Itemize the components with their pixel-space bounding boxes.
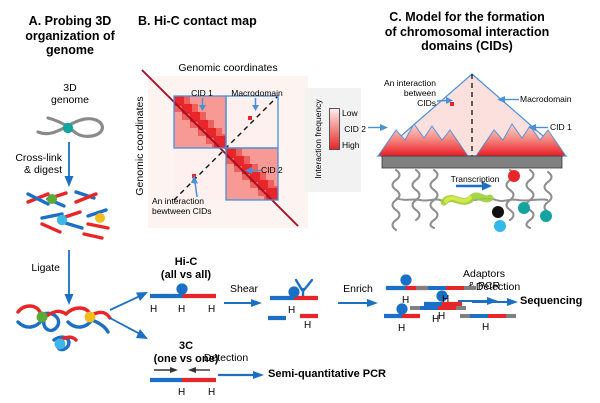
panel-c-cid2-label: CID 2 xyxy=(330,124,366,134)
panel-c-title-line3: domains (CIDs) xyxy=(338,39,596,54)
arrow-ligate xyxy=(62,250,76,306)
arrow-enrich xyxy=(338,298,380,308)
panel-c-macrodomain-arrow xyxy=(497,95,519,104)
panel-b-cid2-arrow xyxy=(245,166,261,175)
hic-title: Hi-C xyxy=(148,256,224,269)
svg-text:H: H xyxy=(288,305,295,316)
panel-a-title: A. Probing 3D organization of genome xyxy=(4,14,136,58)
threec-title: 3C xyxy=(140,340,232,353)
step-crosslink-line2: & digest xyxy=(0,164,62,176)
colorbar-high-label: High xyxy=(342,140,359,150)
panel-a-title-line1: A. Probing 3D xyxy=(4,14,136,29)
step-adaptors-line1: Adaptors xyxy=(456,268,512,280)
panel-a-title-line3: genome xyxy=(4,43,136,58)
panel-c-title: C. Model for the formation of chromosoma… xyxy=(338,10,596,54)
panel-c-interaction-arrow xyxy=(437,96,453,105)
genome-3d-label-line1: 3D xyxy=(30,82,110,94)
step-ligate-label: Ligate xyxy=(6,262,60,274)
panel-c-interaction-line3: CIDs xyxy=(358,98,436,108)
svg-text:H: H xyxy=(442,294,449,305)
svg-text:H: H xyxy=(432,314,439,325)
svg-text:H: H xyxy=(482,322,489,333)
digested-fragments-glyph xyxy=(18,188,128,250)
panel-c-cid1-arrow xyxy=(528,123,548,132)
arrow-crosslink xyxy=(62,142,76,188)
panel-c-interaction-label: An interaction between CIDs xyxy=(358,78,436,108)
panel-b-title: B. Hi-C contact map xyxy=(138,14,314,29)
hic-sheared-fragments: H H xyxy=(266,276,340,328)
genome-3d-label: 3D genome xyxy=(30,82,110,106)
step-detection-3c-label: Detection xyxy=(196,352,256,364)
arrow-detection-hic xyxy=(472,297,520,307)
colorbar-low-label: Low xyxy=(342,108,358,118)
panel-b-macrodomain-arrow xyxy=(251,98,260,112)
result-sequencing-label: Sequencing xyxy=(520,295,598,308)
svg-text:H: H xyxy=(208,304,215,315)
transcription-label: Transcription xyxy=(440,174,510,184)
panel-b-cid1-label: CID 1 xyxy=(185,88,219,98)
step-detection-hic-label: Detection xyxy=(468,281,528,293)
panel-c-interaction-line1: An interaction xyxy=(358,78,436,88)
panel-c-cid1-label: CID 1 xyxy=(550,122,586,132)
hic-subtitle: (all vs all) xyxy=(148,269,224,282)
svg-text:H: H xyxy=(150,304,157,315)
panel-c-title-line2: of chromosomal interaction xyxy=(338,25,596,40)
panel-c-cid2-arrow xyxy=(368,123,388,132)
panel-c-title-line1: C. Model for the formation xyxy=(338,10,596,25)
genome-3d-glyph xyxy=(34,112,112,142)
panel-c-macrodomain-label: Macrodomain xyxy=(520,94,590,104)
svg-text:H: H xyxy=(208,387,215,398)
panel-b-interaction-line2: bewtween CIDs xyxy=(152,206,244,216)
genome-3d-label-line2: genome xyxy=(30,94,110,106)
arrow-shear xyxy=(224,298,264,308)
panel-b-y-axis-label: Genomic coordinates xyxy=(134,76,146,216)
svg-text:H: H xyxy=(178,304,185,315)
panel-b-x-axis-label: Genomic coordinates xyxy=(148,62,308,74)
hic-branch-title: Hi-C (all vs all) xyxy=(148,256,224,281)
step-enrich-label: Enrich xyxy=(336,283,380,295)
panel-b-interaction-arrow xyxy=(190,175,202,197)
step-crosslink-label: Cross-link & digest xyxy=(0,152,62,176)
threec-fragment: H H xyxy=(146,368,226,398)
panel-b-cid2-label: CID 2 xyxy=(261,165,297,175)
panel-b-macrodomain-label: Macrodomain xyxy=(222,88,292,98)
panel-b-interaction-label: An interaction bewtween CIDs xyxy=(152,196,244,216)
panel-b-interaction-line1: An interaction xyxy=(152,196,244,206)
step-crosslink-line1: Cross-link xyxy=(0,152,62,164)
panel-b-cid1-arrow xyxy=(198,98,207,112)
panel-c-interaction-line2: between xyxy=(358,88,436,98)
panel-a-title-line2: organization of xyxy=(4,29,136,44)
colorbar-title: Interaction frequency xyxy=(313,89,323,189)
svg-text:H: H xyxy=(398,323,405,334)
step-shear-label: Shear xyxy=(222,283,266,295)
result-pcr-label: Semi-quantitative PCR xyxy=(268,368,448,381)
hic-fragment-start: H H H xyxy=(146,286,222,316)
arrow-detection-3c xyxy=(218,370,266,380)
svg-text:H: H xyxy=(178,387,185,398)
svg-text:H: H xyxy=(304,320,311,331)
